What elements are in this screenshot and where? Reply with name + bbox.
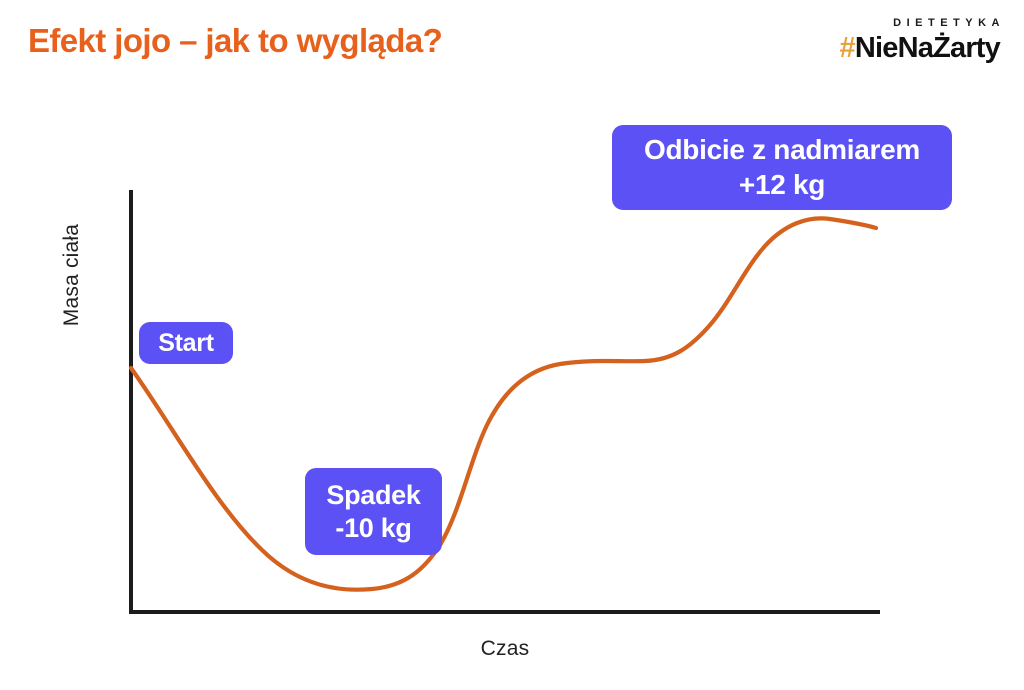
- callout-rebound: Odbicie z nadmiarem +12 kg: [612, 125, 952, 210]
- callout-rebound-label: Odbicie z nadmiarem: [644, 133, 920, 167]
- callout-drop-value: -10 kg: [335, 512, 411, 545]
- callout-drop-label: Spadek: [326, 479, 420, 512]
- callout-start: Start: [139, 322, 233, 364]
- callout-drop: Spadek -10 kg: [305, 468, 442, 555]
- weight-curve: [131, 218, 876, 589]
- x-axis-label: Czas: [405, 637, 605, 661]
- callout-start-label: Start: [158, 328, 213, 359]
- infographic-canvas: Efekt jojo – jak to wygląda? DIETETYKA #…: [0, 0, 1024, 690]
- callout-rebound-value: +12 kg: [739, 168, 825, 202]
- y-axis-label: Masa ciała: [60, 180, 84, 370]
